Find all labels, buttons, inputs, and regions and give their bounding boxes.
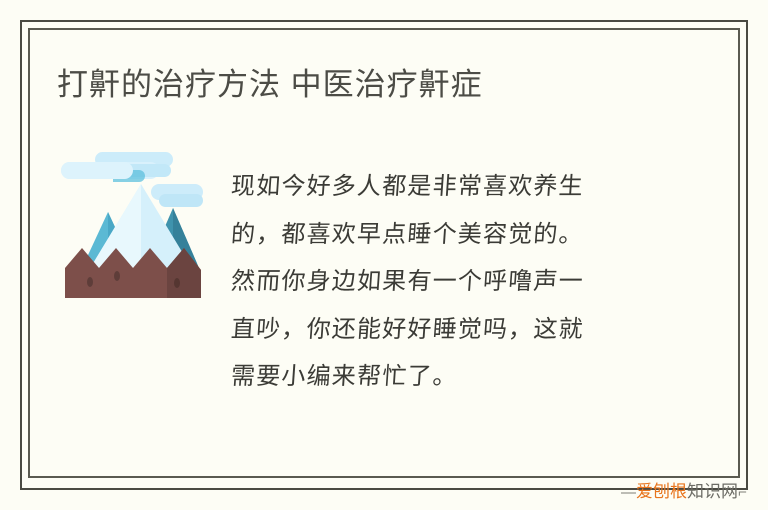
body-line: 然而你身边如果有一个呼噜声一 bbox=[229, 258, 662, 306]
watermark-dash-right: ⌐ bbox=[738, 484, 747, 501]
body-line: 的，都喜欢早点睡个美容觉的。 bbox=[229, 211, 662, 259]
page-title: 打鼾的治疗方法 中医治疗鼾症 bbox=[57, 64, 483, 106]
body-line: 需要小编来帮忙了。 bbox=[229, 353, 662, 401]
watermark-brand: 爱刨根 bbox=[636, 482, 687, 501]
rock-dot bbox=[174, 278, 180, 288]
cloud-group-upper bbox=[61, 152, 173, 182]
rock-dot bbox=[87, 277, 93, 287]
cloud-group-right bbox=[151, 184, 203, 207]
watermark-suffix: 知识网 bbox=[687, 482, 738, 501]
body-line: 现如今好多人都是非常喜欢养生 bbox=[229, 163, 662, 211]
watermark-dash-left: — bbox=[621, 484, 636, 501]
mountain-illustration-svg bbox=[55, 150, 205, 300]
body-line: 直吵，你还能好好睡觉吗，这就 bbox=[229, 306, 662, 354]
rock-dot bbox=[114, 271, 120, 281]
mountain-illustration bbox=[55, 150, 205, 300]
article-body: 现如今好多人都是非常喜欢养生 的，都喜欢早点睡个美容觉的。 然而你身边如果有一个… bbox=[231, 163, 661, 401]
watermark: —爱刨根知识网⌐ bbox=[621, 481, 747, 504]
article-card: 打鼾的治疗方法 中医治疗鼾症 bbox=[0, 0, 768, 510]
